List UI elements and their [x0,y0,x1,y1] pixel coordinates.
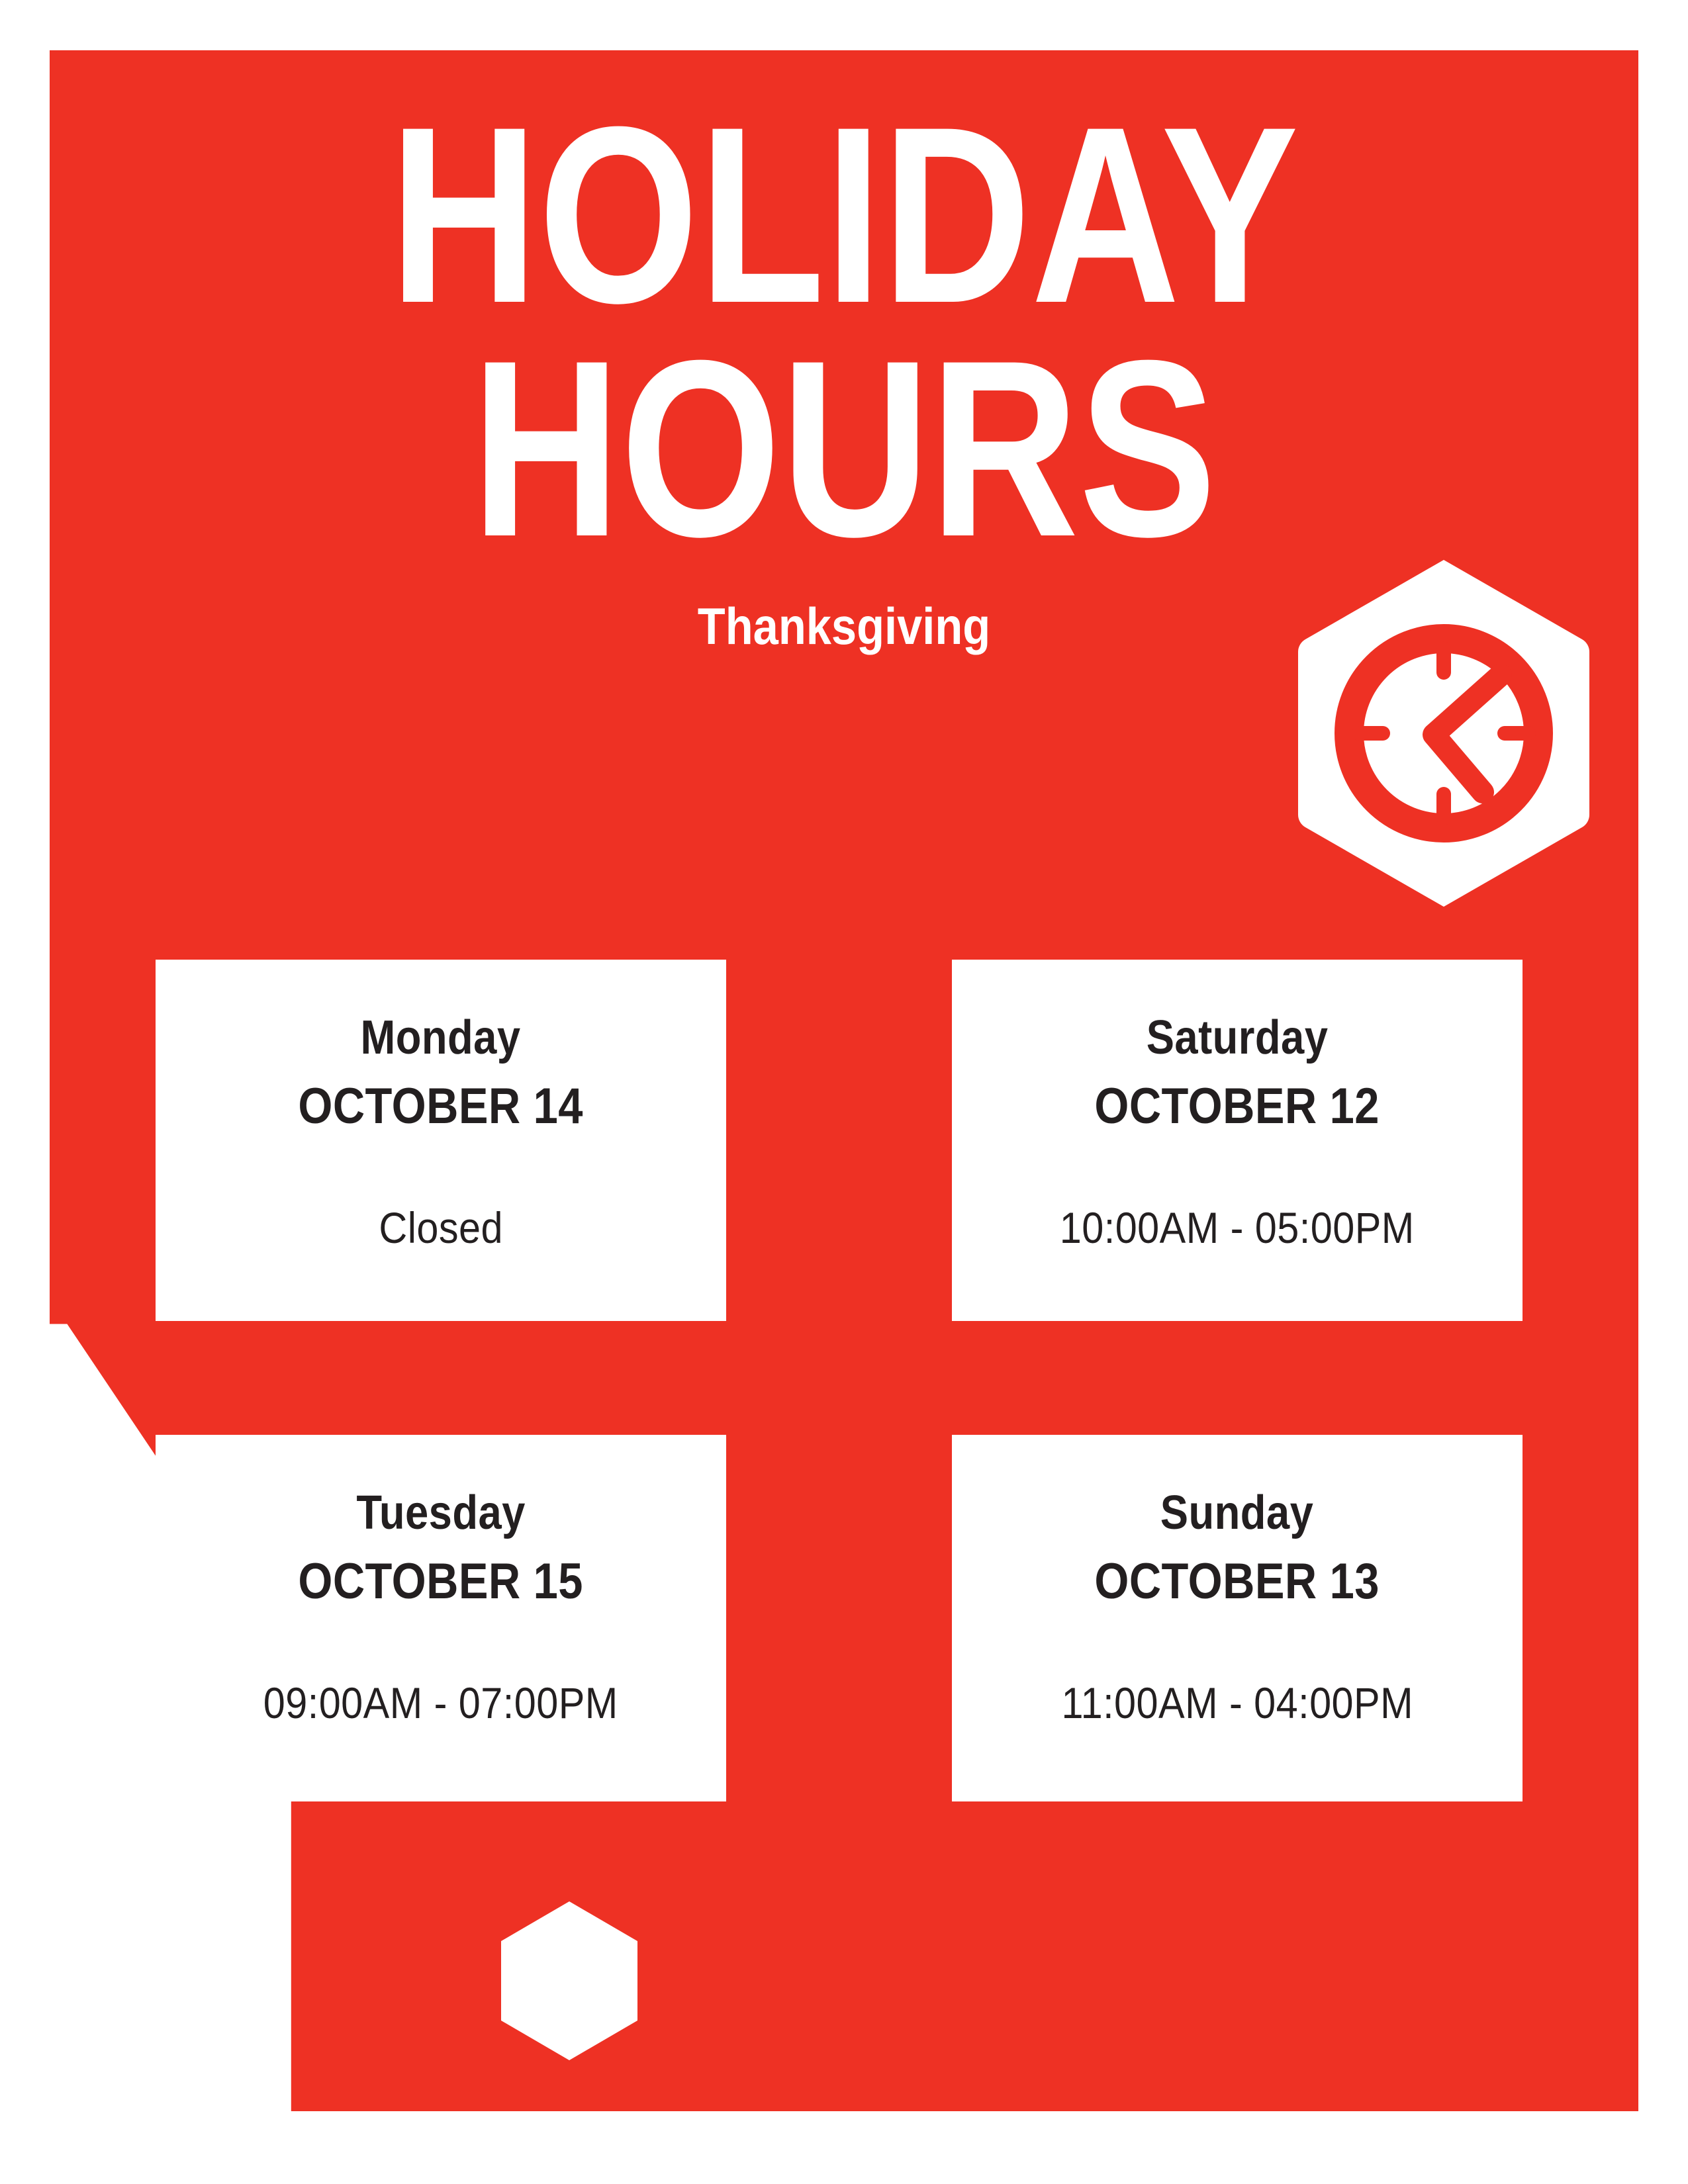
card-date-label: OCTOBER 14 [299,1081,584,1132]
card-day-label: Tuesday [356,1489,525,1537]
card-day-label: Sunday [1160,1489,1313,1537]
schedule-card-grid: Monday OCTOBER 14 Closed Saturday OCTOBE… [156,960,1532,1801]
card-hours-text: 10:00AM - 05:00PM [1060,1206,1415,1250]
holiday-hours-poster: HOLIDAY HOURS Thanksgiving Monday OCTOBE… [0,0,1688,2184]
card-day-label: Monday [361,1014,521,1062]
clock-hexagon-icon [1296,555,1591,912]
card-day-label: Saturday [1147,1014,1329,1062]
card-hours-text: Closed [379,1206,503,1250]
card-date-label: OCTOBER 12 [1095,1081,1380,1132]
schedule-card: Monday OCTOBER 14 Closed [156,960,726,1321]
schedule-card: Sunday OCTOBER 13 11:00AM - 04:00PM [952,1435,1523,1801]
schedule-card: Saturday OCTOBER 12 10:00AM - 05:00PM [952,960,1523,1321]
card-hours-text: 09:00AM - 07:00PM [263,1681,618,1725]
card-date-label: OCTOBER 13 [1095,1557,1380,1607]
card-date-label: OCTOBER 15 [299,1557,584,1607]
card-hours-text: 11:00AM - 04:00PM [1061,1681,1413,1725]
schedule-card: Tuesday OCTOBER 15 09:00AM - 07:00PM [156,1435,726,1801]
